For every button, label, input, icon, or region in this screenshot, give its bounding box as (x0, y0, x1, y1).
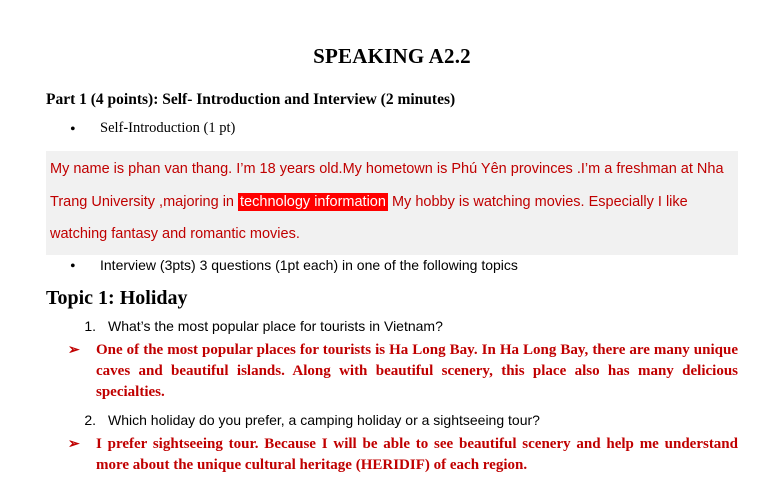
document-page: SPEAKING A2.2 Part 1 (4 points): Self- I… (0, 44, 784, 485)
bullet-interview: • Interview (3pts) 3 questions (1pt each… (46, 257, 738, 275)
bullet-interview-label: Interview (3pts) 3 questions (1pt each) … (100, 257, 518, 273)
question-1-number: 1. (74, 318, 96, 334)
page-title: SPEAKING A2.2 (46, 44, 738, 69)
question-2: 2. Which holiday do you prefer, a campin… (46, 412, 738, 428)
arrow-icon: ➢ (68, 434, 84, 455)
answer-1-text: One of the most popular places for touri… (96, 340, 738, 404)
answer-2-text: I prefer sightseeing tour. Because I wil… (96, 434, 738, 477)
topic-heading: Topic 1: Holiday (46, 287, 738, 310)
question-2-number: 2. (74, 412, 96, 428)
part1-heading: Part 1 (4 points): Self- Introduction an… (46, 91, 738, 109)
question-2-text: Which holiday do you prefer, a camping h… (108, 412, 540, 428)
bullet-icon: • (70, 257, 84, 275)
self-introduction-answer: My name is phan van thang. I’m 18 years … (46, 151, 738, 255)
bullet-self-introduction: • Self-Introduction (1 pt) (46, 120, 738, 138)
answer-2: ➢ I prefer sightseeing tour. Because I w… (46, 434, 738, 477)
bullet-self-introduction-label: Self-Introduction (1 pt) (100, 120, 235, 137)
highlighted-phrase: technology information (238, 193, 388, 211)
answer-1: ➢ One of the most popular places for tou… (46, 340, 738, 404)
arrow-icon: ➢ (68, 340, 84, 361)
bullet-icon: • (70, 120, 84, 138)
question-1: 1. What’s the most popular place for tou… (46, 318, 738, 334)
question-1-text: What’s the most popular place for touris… (108, 318, 443, 334)
